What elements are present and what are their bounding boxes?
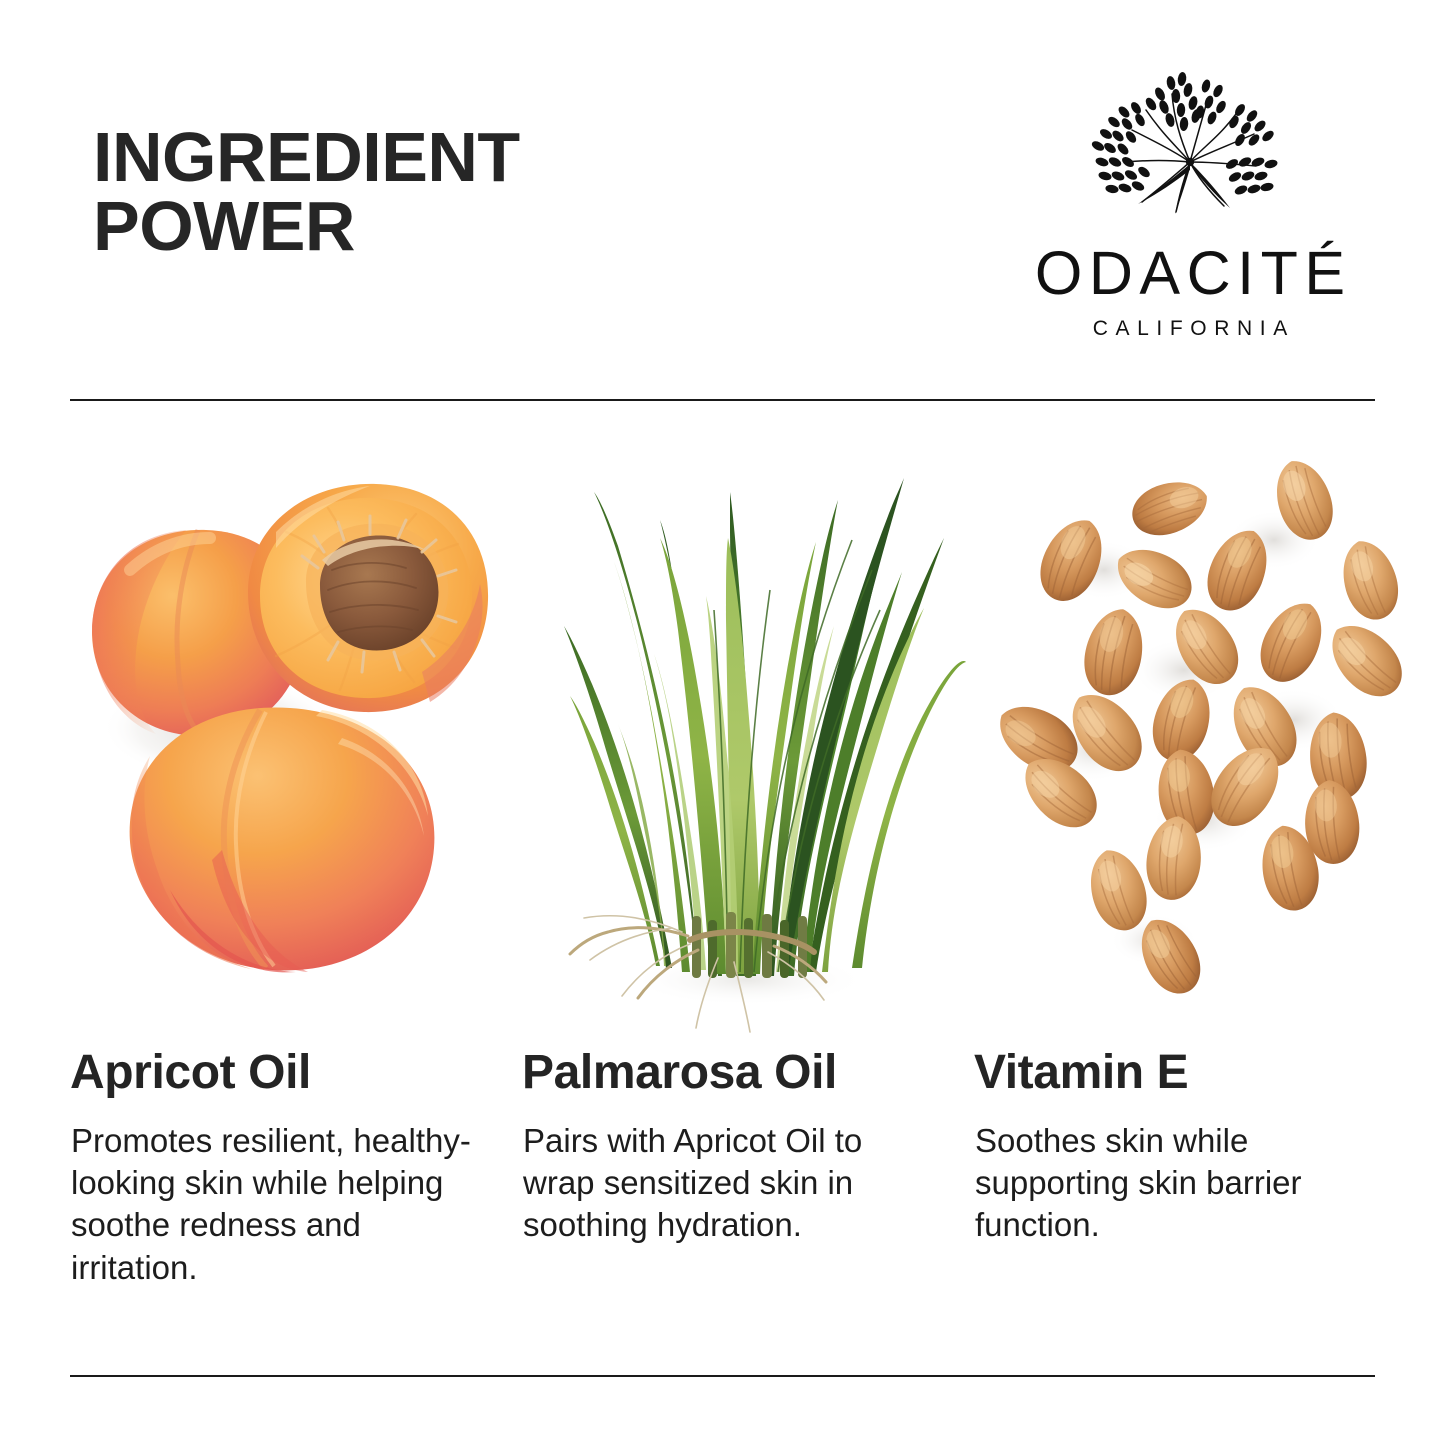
ingredient-card-palmarosa-oil: Palmarosa Oil Pairs with Apricot Oil to … <box>522 420 974 1370</box>
ingredient-card-vitamin-e: Vitamin E Soothes skin while supporting … <box>974 420 1426 1370</box>
ingredient-title: Vitamin E <box>974 1048 1188 1098</box>
header: INGREDIENT POWER <box>0 0 1445 400</box>
brand-wordmark: ODACITÉ <box>1005 243 1375 304</box>
ingredient-description: Soothes skin while supporting skin barri… <box>975 1120 1315 1247</box>
ingredient-title: Palmarosa Oil <box>522 1048 837 1098</box>
page-title: INGREDIENT POWER <box>93 123 520 262</box>
ingredient-card-apricot-oil: Apricot Oil Promotes resilient, healthy-… <box>70 420 522 1370</box>
ingredient-columns: Apricot Oil Promotes resilient, healthy-… <box>0 420 1445 1370</box>
apricot-photo <box>70 420 522 1040</box>
ingredient-description: Promotes resilient, healthy-looking skin… <box>71 1120 471 1289</box>
palmarosa-grass-photo <box>522 420 974 1040</box>
ingredient-power-infographic: INGREDIENT POWER <box>0 0 1445 1445</box>
divider-bottom <box>70 1375 1375 1377</box>
brand-logo: ODACITÉ CALIFORNIA <box>1005 50 1375 340</box>
divider-top <box>70 399 1375 401</box>
umbel-flower-icon <box>1072 50 1308 235</box>
ingredient-title: Apricot Oil <box>70 1048 311 1098</box>
ingredient-description: Pairs with Apricot Oil to wrap sensitize… <box>523 1120 933 1247</box>
almonds-photo <box>974 420 1426 1040</box>
brand-tagline: CALIFORNIA <box>1005 318 1375 339</box>
